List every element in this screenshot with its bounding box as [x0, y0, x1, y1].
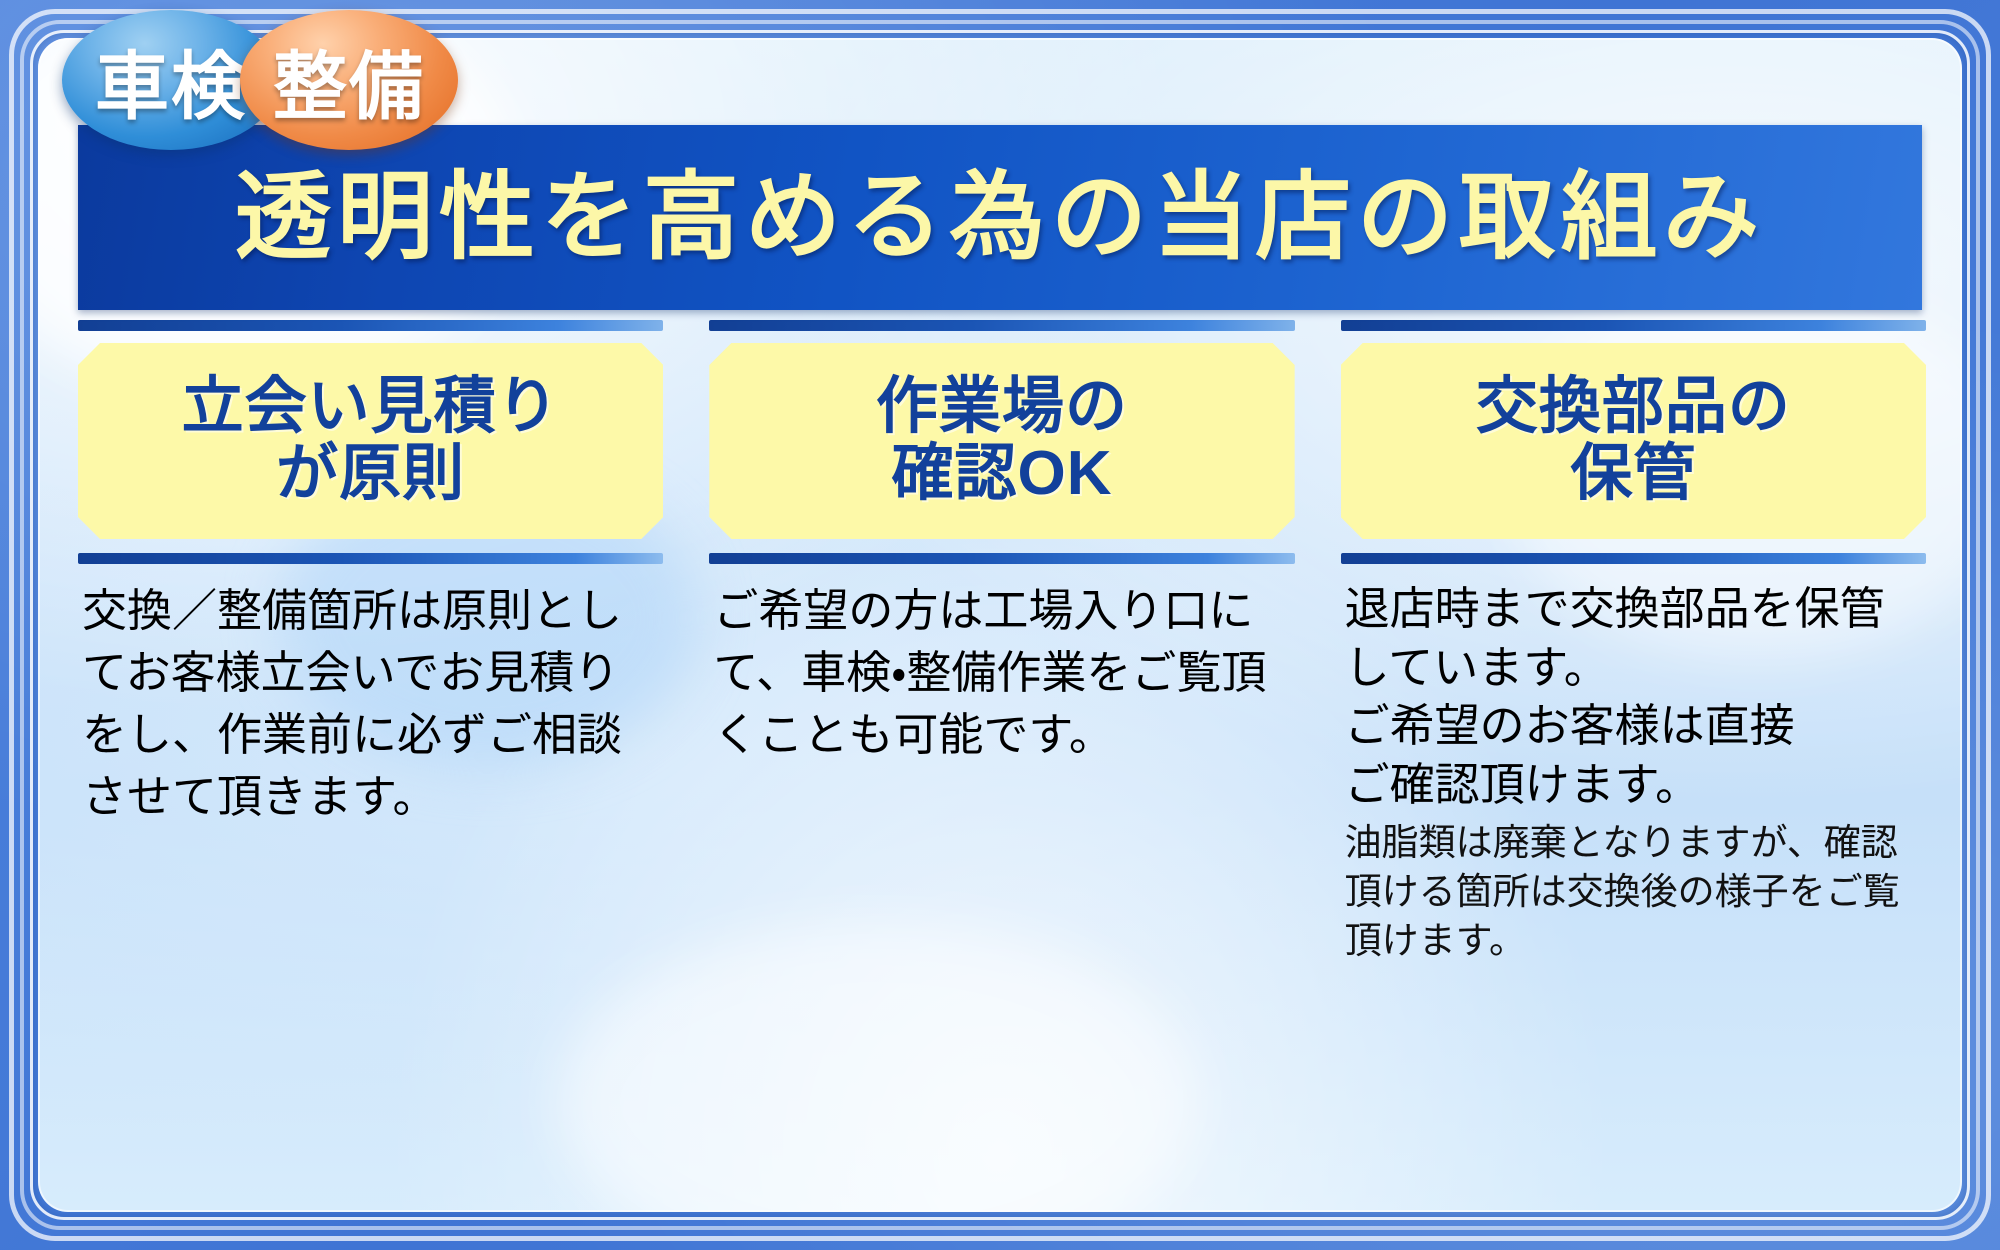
column-1-body: 交換／整備箇所は原則としてお客様立会いでお見積りをし、作業前に必ずご相談させて頂…: [78, 564, 663, 828]
column-2-heading-line1: 作業場の: [876, 372, 1128, 441]
column-2-rule-bottom: [709, 553, 1294, 564]
column-3-body-wrap: 退店時まで交換部品を保管しています。ご希望のお客様は直接ご確認頂けます。 油脂類…: [1341, 553, 1926, 1210]
poster-root: 車検 整備 透明性を高める為の当店の取組み 立会い見積り が原則 交換／整備箇所…: [0, 0, 2000, 1250]
column-1-body-wrap: 交換／整備箇所は原則としてお客様立会いでお見積りをし、作業前に必ずご相談させて頂…: [78, 553, 663, 1210]
column-1-rule-bottom: [78, 553, 663, 564]
column-2-body-wrap: ご希望の方は工場入り口にて、車検・整備作業をご覧頂くことも可能です。: [709, 553, 1294, 1210]
column-2-body: ご希望の方は工場入り口にて、車検・整備作業をご覧頂くことも可能です。: [709, 564, 1294, 766]
column-2: 作業場の 確認OK ご希望の方は工場入り口にて、車検・整備作業をご覧頂くことも可…: [709, 320, 1294, 1210]
column-1-heading-card: 立会い見積り が原則: [78, 343, 663, 539]
column-3-heading-card: 交換部品の 保管: [1341, 343, 1926, 539]
column-1-heading-line1: 立会い見積り: [182, 372, 560, 441]
column-1: 立会い見積り が原則 交換／整備箇所は原則としてお客様立会いでお見積りをし、作業…: [78, 320, 663, 1210]
column-1-rule-top: [78, 320, 663, 331]
title-bar: 透明性を高める為の当店の取組み: [78, 125, 1922, 310]
column-2-heading-line2: 確認OK: [891, 439, 1112, 508]
column-1-heading: 立会い見積り が原則: [182, 374, 560, 508]
badge-seibi: 整備: [240, 10, 458, 150]
column-3-heading-line1: 交換部品の: [1476, 372, 1791, 441]
column-2-heading: 作業場の 確認OK: [876, 374, 1128, 508]
column-3-heading-line2: 保管: [1570, 439, 1696, 508]
column-3-body: 退店時まで交換部品を保管しています。ご希望のお客様は直接ご確認頂けます。: [1341, 564, 1926, 814]
badge-seibi-label: 整備: [273, 27, 425, 134]
column-2-heading-card: 作業場の 確認OK: [709, 343, 1294, 539]
column-3-note: 油脂類は廃棄となりますが、確認頂ける箇所は交換後の様子をご覧頂けます。: [1345, 818, 1922, 966]
column-3: 交換部品の 保管 退店時まで交換部品を保管しています。ご希望のお客様は直接ご確認…: [1341, 320, 1926, 1210]
columns-container: 立会い見積り が原則 交換／整備箇所は原則としてお客様立会いでお見積りをし、作業…: [78, 320, 1926, 1210]
badge-syaken-label: 車検: [95, 27, 247, 134]
column-3-heading: 交換部品の 保管: [1476, 374, 1791, 508]
column-2-rule-top: [709, 320, 1294, 331]
page-title: 透明性を高める為の当店の取組み: [235, 170, 1765, 266]
column-3-rule-bottom: [1341, 553, 1926, 564]
column-1-heading-line2: が原則: [276, 439, 465, 508]
column-3-rule-top: [1341, 320, 1926, 331]
